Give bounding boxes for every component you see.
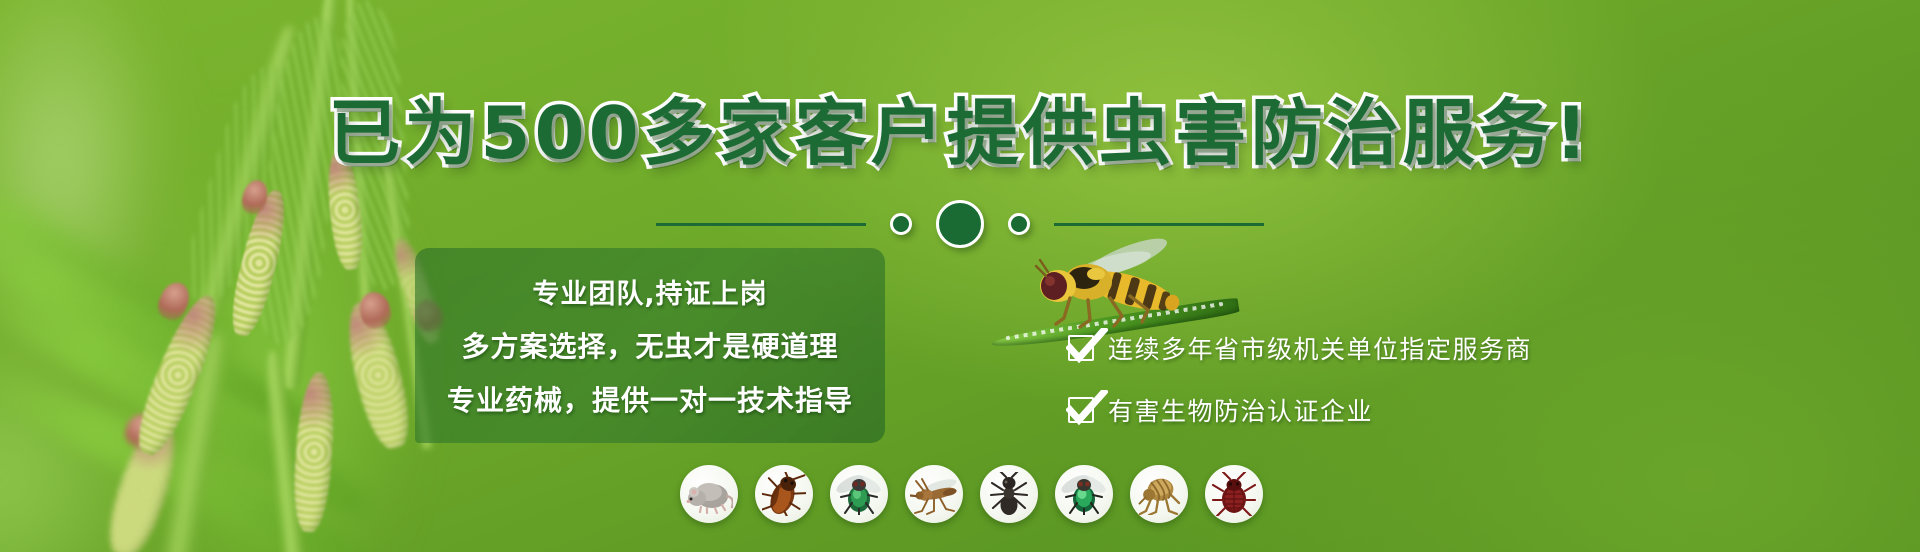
flower-bud-tip — [154, 278, 194, 324]
checkbox-checked-icon — [1068, 397, 1094, 423]
pest-icon-flea[interactable] — [1130, 465, 1188, 523]
pest-icon-mosquito[interactable] — [905, 465, 963, 523]
blurred-frond — [0, 254, 382, 534]
plant-stem — [278, 0, 344, 390]
decorative-rule-left — [656, 223, 866, 226]
mouse-icon — [685, 474, 733, 514]
decorative-divider — [0, 196, 1920, 252]
decorative-dot-small-left — [890, 213, 912, 235]
plant-stem — [261, 349, 308, 552]
pest-icon-fly[interactable] — [830, 465, 888, 523]
fly-icon — [836, 473, 882, 515]
blurred-frond — [0, 151, 236, 366]
pest-icon-greenfly[interactable] — [1055, 465, 1113, 523]
checklist-item-label: 有害生物防治认证企业 — [1108, 392, 1373, 428]
flower-spike — [128, 289, 229, 462]
list-item: 连续多年省市级机关单位指定服务商 — [1068, 330, 1808, 366]
feature-line-2: 多方案选择，无虫才是硬道理 — [461, 325, 838, 365]
pest-type-icon-row — [680, 465, 1263, 523]
mosquito-icon — [910, 473, 958, 515]
checklist-item-label: 连续多年省市级机关单位指定服务商 — [1108, 330, 1532, 366]
checkbox-checked-icon — [1068, 335, 1094, 361]
plant-stem — [161, 329, 232, 552]
pest-icon-mouse[interactable] — [680, 465, 738, 523]
flower-bud-tip — [356, 289, 394, 331]
pest-icon-ant[interactable] — [980, 465, 1038, 523]
list-item: 有害生物防治认证企业 — [1068, 392, 1808, 428]
decorative-dot-large — [936, 200, 984, 248]
ant-icon — [988, 472, 1030, 516]
pest-control-hero-banner: 已为500多家客户提供虫害防治服务! 专业团队,持证上岗 多方案选择，无虫才是硬… — [0, 0, 1920, 552]
page-title: 已为500多家客户提供虫害防治服务! — [0, 74, 1920, 179]
plant-stem — [342, 0, 379, 380]
flower-spike — [290, 371, 337, 533]
pest-icon-bedbug[interactable] — [1205, 465, 1263, 523]
leaf-texture — [248, 13, 352, 348]
hoverfly-icon — [1018, 234, 1218, 334]
flea-icon — [1137, 473, 1181, 515]
cockroach-icon — [762, 472, 806, 516]
certification-checklist: 连续多年省市级机关单位指定服务商 有害生物防治认证企业 — [1068, 330, 1808, 454]
greenfly-icon — [1061, 473, 1107, 515]
feature-line-1: 专业团队,持证上岗 — [532, 272, 767, 311]
feature-line-3: 专业药械，提供一对一技术指导 — [447, 379, 853, 419]
feature-highlight-box: 专业团队,持证上岗 多方案选择，无虫才是硬道理 专业药械，提供一对一技术指导 — [415, 248, 885, 443]
bedbug-icon — [1212, 472, 1256, 516]
flower-spike — [99, 416, 186, 552]
flower-bud-tip — [121, 410, 160, 452]
pest-icon-cockroach[interactable] — [755, 465, 813, 523]
flower-spike — [339, 297, 418, 453]
decorative-rule-right — [1054, 223, 1264, 226]
blurred-frond — [0, 354, 379, 552]
